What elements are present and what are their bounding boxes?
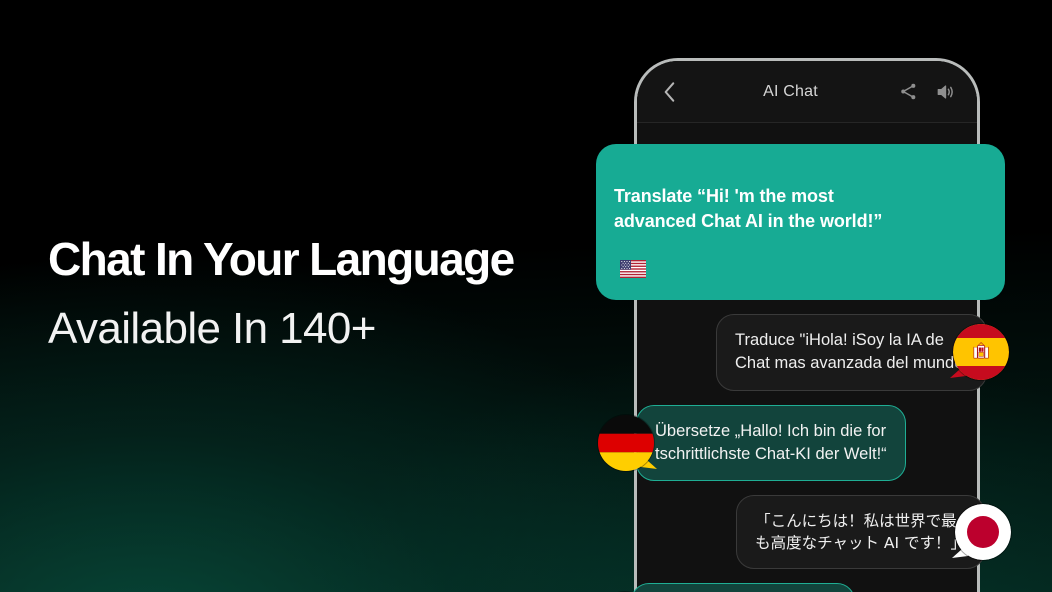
phone-screen: AI Chat: [637, 61, 977, 592]
phone-mockup: AI Chat: [634, 58, 980, 592]
page-subtitle: Available In 140+: [48, 306, 593, 352]
chat-message-english: Translate “Hi! 'm the most advanced Chat…: [596, 144, 1005, 300]
message-text: Translate “Hi! 'm the most advanced Chat…: [614, 186, 882, 232]
share-icon[interactable]: [898, 81, 919, 102]
spain-flag-icon: [953, 324, 1009, 380]
app-bar-actions: [898, 81, 957, 103]
message-bubble[interactable]: Übersetze „Hallo! Ich bin die for tschri…: [636, 405, 906, 482]
japan-flag-icon: [955, 504, 1011, 560]
app-bar-title: AI Chat: [683, 83, 898, 101]
chat-thread[interactable]: Translate “Hi! 'm the most advanced Chat…: [637, 123, 977, 592]
speaker-volume-icon[interactable]: [935, 81, 957, 103]
page-title: Chat In Your Language: [48, 236, 593, 284]
promo-banner: Chat In Your Language Available In 140+ …: [0, 0, 1052, 592]
chat-message-spanish: Traduce "iHola! iSoy la IA de Chat mas a…: [637, 314, 1009, 391]
message-bubble[interactable]: 「こんにちは！私は世界で最 も高度なチャット AI です！」: [736, 495, 985, 569]
message-bubble[interactable]: Traduce "iHola! iSoy la IA de Chat mas a…: [716, 314, 987, 391]
chat-message-korean: "안녕하세요! 저는 세계에서 가장 발전된 채팅 AI입니다!": [597, 583, 977, 592]
germany-flag-icon: [598, 415, 654, 471]
chat-message-japanese: 「こんにちは！私は世界で最 も高度なチャット AI です！」: [637, 495, 1011, 569]
united-states-flag-icon: [620, 235, 646, 286]
marketing-copy: Chat In Your Language Available In 140+: [48, 236, 593, 352]
chat-message-german: Übersetze „Hallo! Ich bin die for tschri…: [598, 405, 977, 482]
chevron-left-icon[interactable]: [657, 79, 683, 105]
app-bar: AI Chat: [637, 61, 977, 123]
message-bubble[interactable]: "안녕하세요! 저는 세계에서 가장 발전된 채팅 AI입니다!": [631, 583, 855, 592]
message-bubble[interactable]: Translate “Hi! 'm the most advanced Chat…: [596, 144, 1005, 300]
